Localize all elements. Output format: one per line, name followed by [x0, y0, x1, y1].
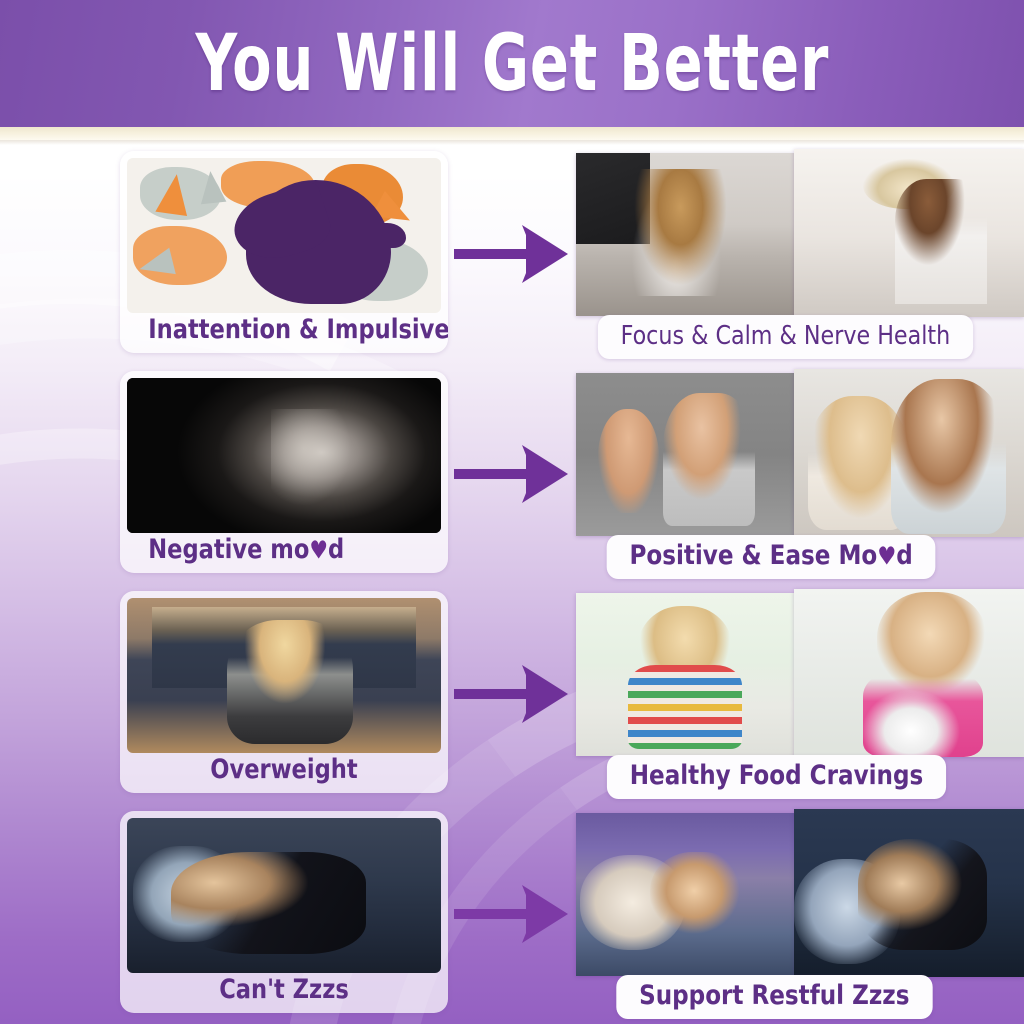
page-header: You Will Get Better — [0, 0, 1024, 127]
after-caption: Healthy Food Cravings — [607, 755, 946, 799]
after-image-1 — [576, 373, 794, 536]
caption-text-part: Positive & Ease Mo — [629, 540, 877, 571]
comparison-row: Overweight Healthy Food Cravings — [0, 585, 1024, 805]
right-arrow-icon — [452, 223, 570, 285]
comparison-row: Can't Zzzs Support Restful Zzzs — [0, 805, 1024, 1024]
comparison-row: Inattention & Impulsive Focus & Calm & N… — [0, 145, 1024, 365]
after-images — [576, 809, 1024, 979]
before-card: Overweight — [120, 591, 448, 793]
after-images — [576, 589, 1024, 759]
after-group: Healthy Food Cravings — [576, 589, 1024, 801]
after-image-1 — [576, 153, 794, 316]
after-caption: Support Restful Zzzs — [616, 975, 932, 1019]
before-caption: Inattention & Impulsive — [131, 313, 436, 347]
comparison-row: Negative mo♥d Positive & Ease Mo♥d — [0, 365, 1024, 585]
adhd-illustration — [127, 158, 441, 313]
after-image-2 — [794, 589, 1024, 757]
right-arrow-icon — [452, 443, 570, 505]
caption-text-part: Negative mo — [148, 534, 309, 565]
after-image-2 — [794, 809, 1024, 977]
before-caption: Negative mo♥d — [131, 533, 436, 567]
after-image-2 — [794, 369, 1024, 537]
before-card: Inattention & Impulsive — [120, 151, 448, 353]
caption-text-part: d — [896, 540, 913, 571]
right-arrow-icon — [452, 663, 570, 725]
after-caption: Positive & Ease Mo♥d — [607, 535, 936, 579]
header-divider — [0, 127, 1024, 140]
heart-icon: ♥ — [309, 535, 328, 564]
heart-icon: ♥ — [877, 541, 896, 570]
before-card: Can't Zzzs — [120, 811, 448, 1013]
after-group: Support Restful Zzzs — [576, 809, 1024, 1021]
infographic-page: You Will Get Better — [0, 0, 1024, 1024]
before-card: Negative mo♥d — [120, 371, 448, 573]
before-image — [127, 598, 441, 753]
after-images — [576, 369, 1024, 539]
before-caption: Can't Zzzs — [131, 973, 436, 1007]
after-image-1 — [576, 813, 794, 976]
right-arrow-icon — [452, 883, 570, 945]
before-caption: Overweight — [131, 753, 436, 787]
after-caption: Focus & Calm & Nerve Health — [598, 315, 973, 359]
comparison-rows: Inattention & Impulsive Focus & Calm & N… — [0, 145, 1024, 1024]
after-image-2 — [794, 149, 1024, 317]
caption-text-part: d — [328, 534, 344, 565]
page-title: You Will Get Better — [195, 25, 829, 103]
after-group: Focus & Calm & Nerve Health — [576, 149, 1024, 361]
after-group: Positive & Ease Mo♥d — [576, 369, 1024, 581]
before-image — [127, 818, 441, 973]
before-image — [127, 378, 441, 533]
after-image-1 — [576, 593, 794, 756]
after-images — [576, 149, 1024, 319]
before-image — [127, 158, 441, 313]
